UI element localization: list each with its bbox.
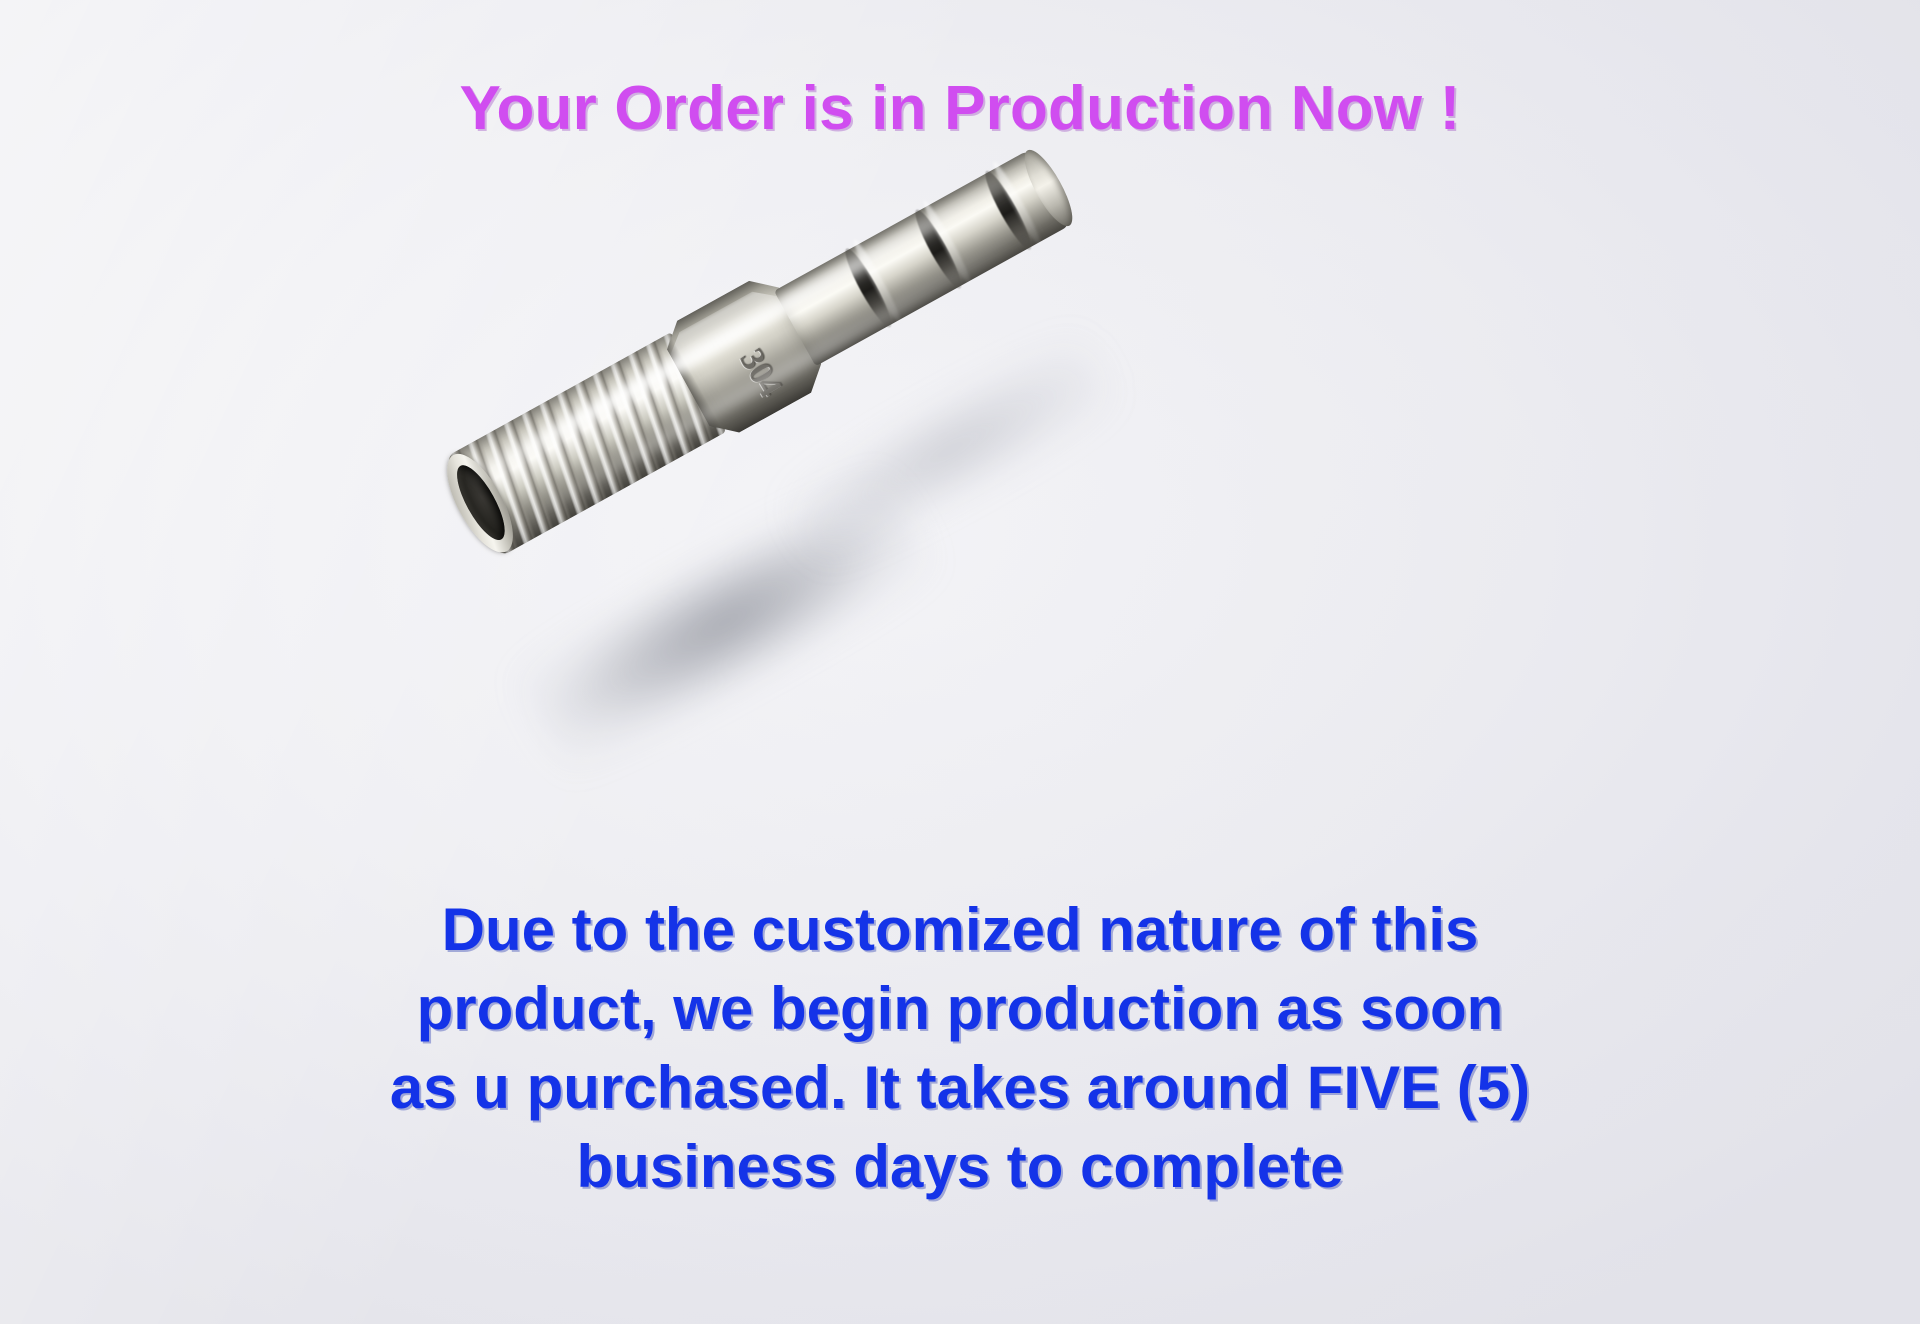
- notice-line-2: product, we begin production as soon: [0, 969, 1920, 1048]
- product-stage: 304: [455, 300, 1135, 730]
- notice-line-4: business days to complete: [0, 1127, 1920, 1206]
- barb-shank: [774, 149, 1071, 366]
- promo-image-canvas: Your Order is in Production Now ! 304: [0, 0, 1920, 1324]
- notice-line-3: as u purchased. It takes around FIVE (5): [0, 1048, 1920, 1127]
- product-photo: 304: [455, 300, 1135, 730]
- notice-line-1: Due to the customized nature of this: [0, 890, 1920, 969]
- production-notice: Due to the customized nature of this pro…: [0, 890, 1920, 1206]
- headline-text: Your Order is in Production Now !: [0, 78, 1920, 140]
- hose-barb-fitting: 304: [444, 135, 1078, 558]
